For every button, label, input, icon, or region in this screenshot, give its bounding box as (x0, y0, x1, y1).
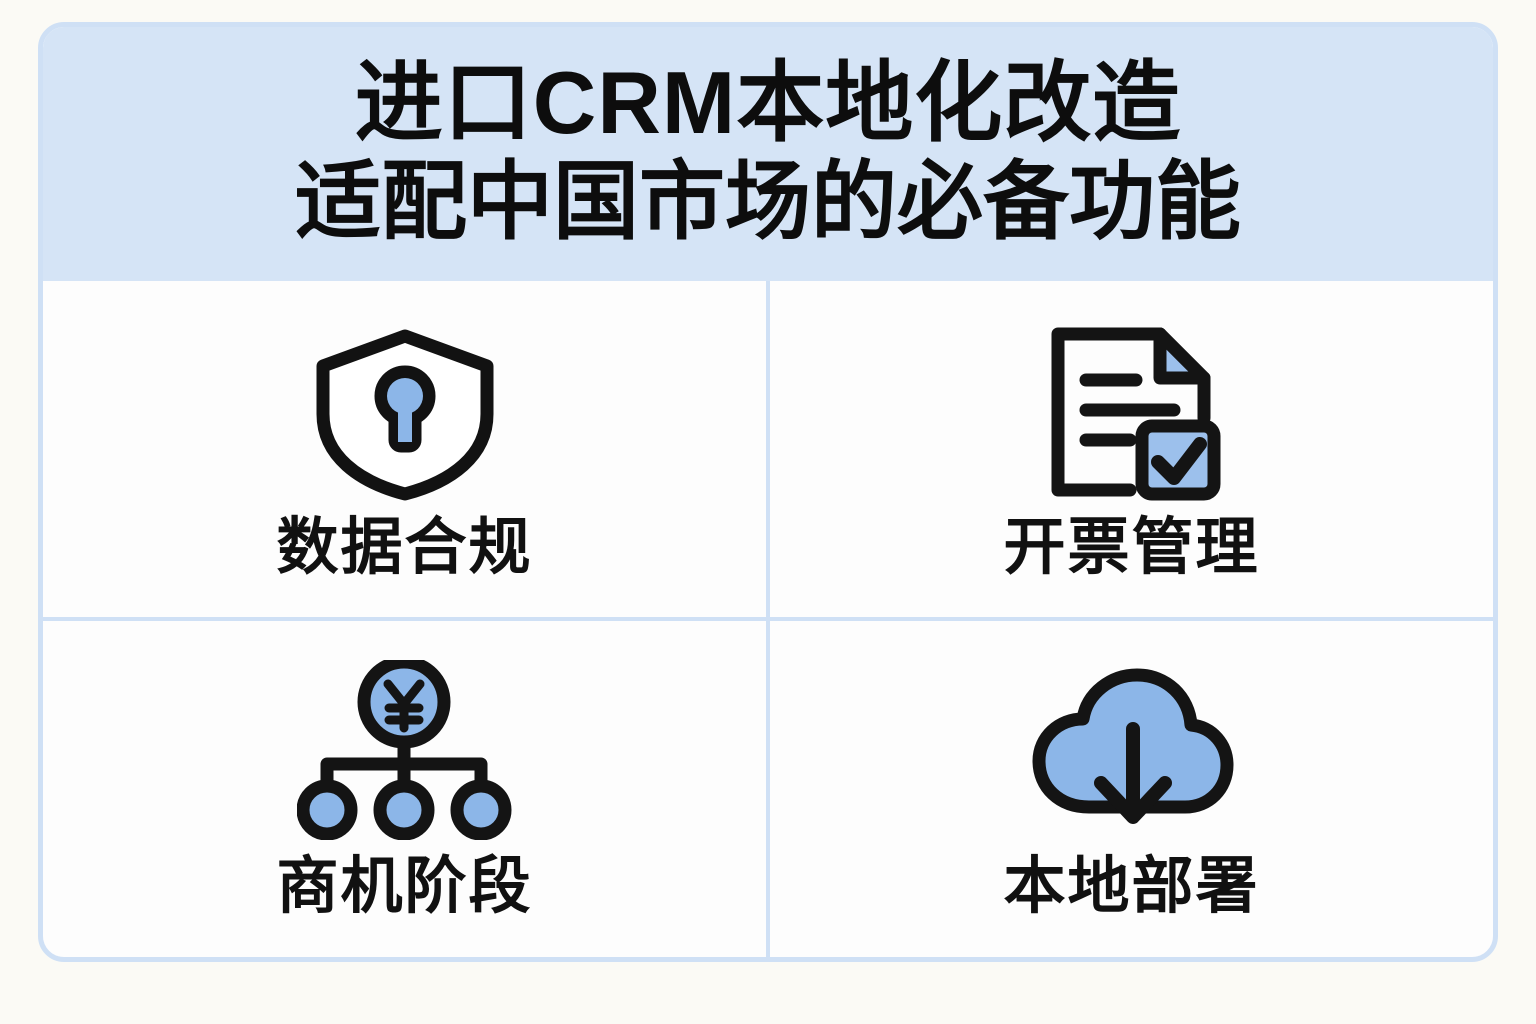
infographic-card: 进口CRM本地化改造 适配中国市场的必备功能 (38, 22, 1498, 962)
feature-grid: 数据合规 (43, 281, 1493, 957)
document-check-icon (1017, 320, 1247, 505)
page-title-line-1: 进口CRM本地化改造 (83, 53, 1453, 153)
feature-label-data-compliance: 数据合规 (276, 517, 532, 579)
page-title-line-2: 适配中国市场的必备功能 (83, 153, 1453, 251)
feature-cell-local-deployment[interactable]: 本地部署 (770, 621, 1493, 957)
header-band: 进口CRM本地化改造 适配中国市场的必备功能 (43, 27, 1493, 281)
feature-label-opportunity-stage: 商机阶段 (276, 856, 532, 918)
feature-cell-invoice-management[interactable]: 开票管理 (770, 281, 1493, 617)
feature-label-local-deployment: 本地部署 (1003, 856, 1259, 918)
feature-cell-data-compliance[interactable]: 数据合规 (43, 281, 766, 617)
infographic-canvas: 进口CRM本地化改造 适配中国市场的必备功能 (0, 0, 1536, 1024)
cloud-download-icon (1017, 660, 1247, 840)
feature-cell-opportunity-stage[interactable]: 商机阶段 (43, 621, 766, 957)
shield-lock-icon (290, 320, 520, 505)
yuan-hierarchy-icon (290, 660, 520, 840)
feature-label-invoice-management: 开票管理 (1003, 517, 1259, 579)
